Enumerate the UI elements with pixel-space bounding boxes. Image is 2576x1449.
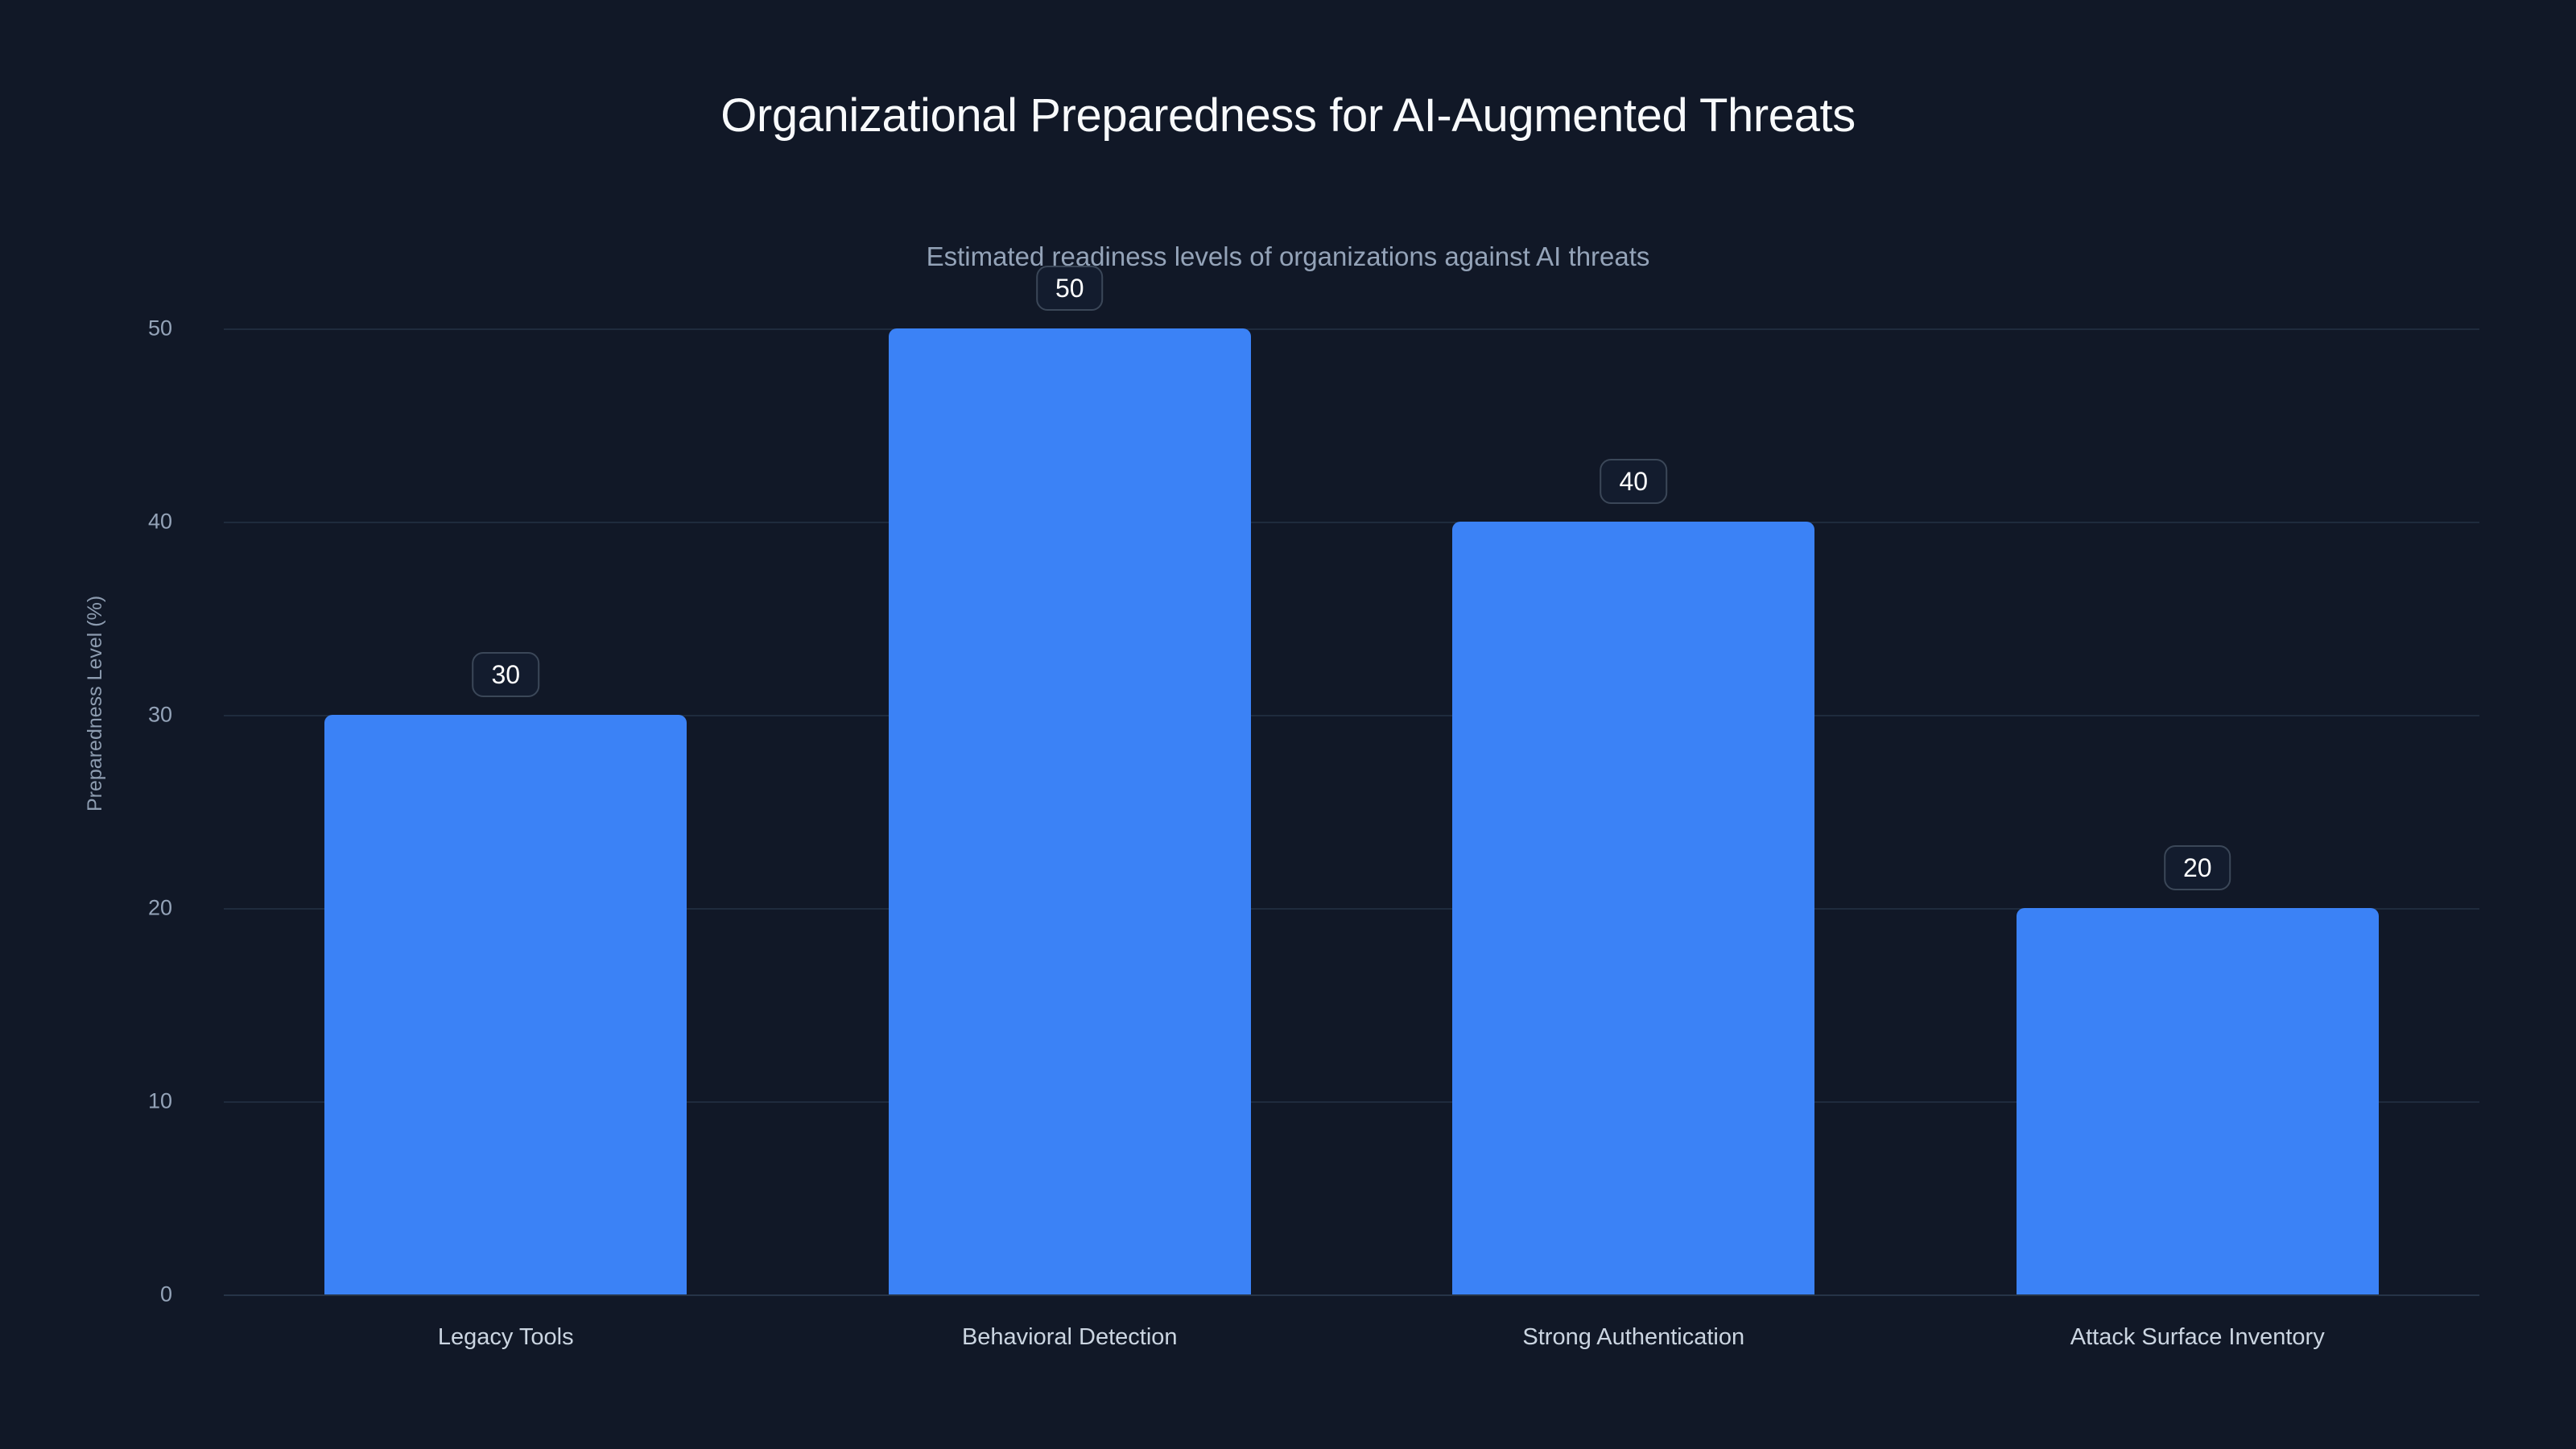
x-axis-category-label: Behavioral Detection — [962, 1324, 1178, 1351]
y-axis-tick-labels: 01020304050 — [0, 328, 201, 1294]
chart-title: Organizational Preparedness for AI-Augme… — [0, 89, 2576, 142]
gridline — [224, 1294, 2479, 1296]
x-axis-category-label: Strong Authentication — [1522, 1324, 1744, 1351]
bar-chart: Organizational Preparedness for AI-Augme… — [0, 0, 2576, 1449]
y-axis-tick-label: 40 — [148, 510, 172, 535]
x-axis-category-label: Legacy Tools — [438, 1324, 574, 1351]
data-label-badge: 20 — [2164, 845, 2231, 890]
gridline — [224, 328, 2479, 330]
y-axis-tick-label: 30 — [148, 703, 172, 728]
bar[interactable] — [324, 715, 687, 1294]
bar[interactable] — [1452, 522, 1814, 1294]
y-axis-tick-label: 0 — [160, 1282, 172, 1307]
bar[interactable] — [889, 328, 1251, 1294]
x-axis-category-labels: Legacy ToolsBehavioral DetectionStrong A… — [224, 1324, 2479, 1364]
bar[interactable] — [2017, 908, 2379, 1294]
y-axis-tick-label: 10 — [148, 1089, 172, 1114]
data-label-badge: 40 — [1600, 459, 1667, 504]
data-label-badge: 50 — [1036, 266, 1104, 311]
y-axis-tick-label: 50 — [148, 316, 172, 341]
chart-subtitle: Estimated readiness levels of organizati… — [0, 242, 2576, 272]
data-label-badge: 30 — [472, 652, 539, 697]
gridline — [224, 522, 2479, 523]
y-axis-tick-label: 20 — [148, 896, 172, 921]
x-axis-category-label: Attack Surface Inventory — [2070, 1324, 2325, 1351]
plot-area — [224, 328, 2479, 1294]
